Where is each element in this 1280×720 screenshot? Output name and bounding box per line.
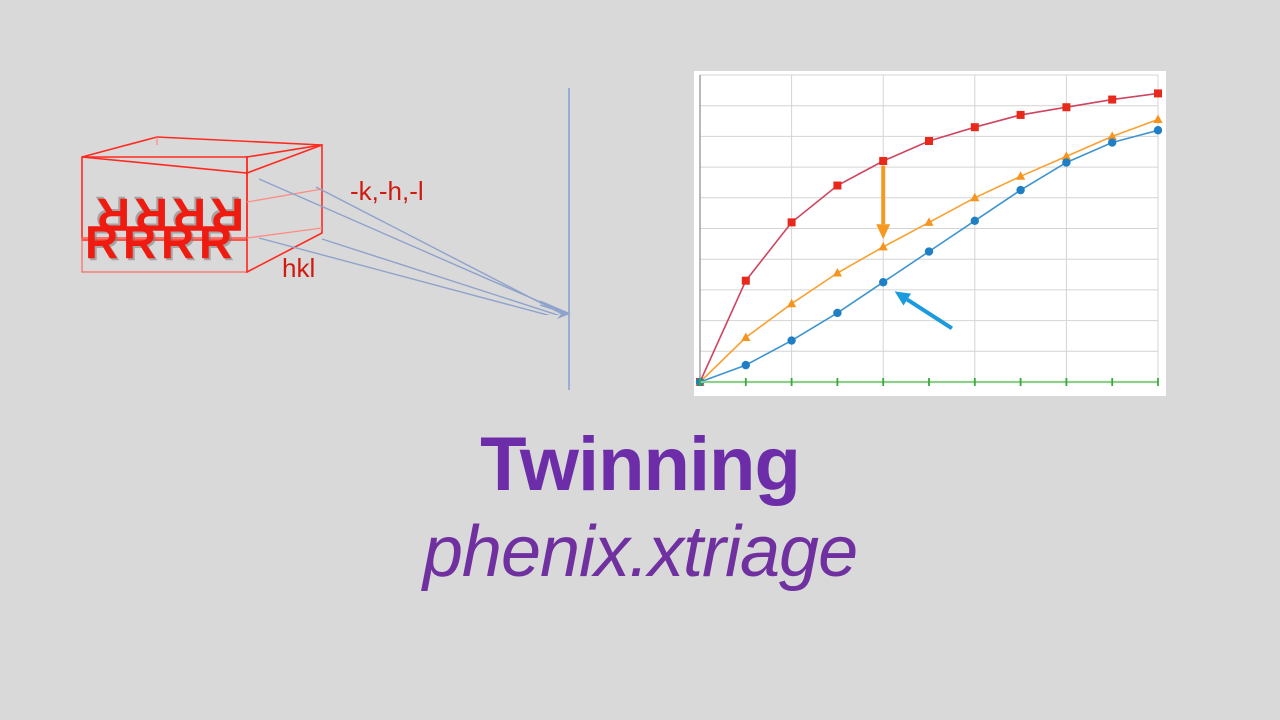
chart-marker-untwinned <box>1154 126 1162 134</box>
upper-domain-index-label: -k,-h,-l <box>350 176 424 206</box>
chart-marker-untwinned <box>1062 158 1070 166</box>
ray-arrowheads <box>540 295 590 335</box>
chart-marker-untwinned <box>925 247 933 255</box>
chart-marker-perfect-twin <box>925 137 933 145</box>
chart-marker-partial-twin <box>879 242 888 251</box>
chart-marker-untwinned <box>833 309 841 317</box>
chart-marker-perfect-twin <box>1062 103 1070 111</box>
chart-marker-perfect-twin <box>1108 96 1116 104</box>
svg-text:R: R <box>199 216 232 268</box>
chart-annotation-head-orange-down-arrow <box>876 224 890 239</box>
chart-marker-partial-twin <box>787 299 796 308</box>
chart-series-line-untwinned <box>700 130 1158 382</box>
chart-marker-perfect-twin <box>971 123 979 131</box>
chart-marker-partial-twin <box>833 268 842 277</box>
chart-marker-partial-twin <box>741 332 750 341</box>
chart-marker-untwinned <box>742 361 750 369</box>
chart-marker-perfect-twin <box>879 157 887 165</box>
chart-marker-untwinned <box>879 278 887 286</box>
page-title: Twinning <box>0 425 1280 505</box>
chart-marker-perfect-twin <box>833 182 841 190</box>
detector-plane-line <box>568 88 570 390</box>
chart-marker-untwinned <box>971 217 979 225</box>
chart-marker-partial-twin <box>1153 115 1162 124</box>
slide-canvas: R R R R R R R R R R R R R R R R <box>0 0 1280 720</box>
chart-marker-perfect-twin <box>1017 111 1025 119</box>
svg-text:R: R <box>85 216 118 268</box>
svg-text:R: R <box>123 216 156 268</box>
chart-marker-untwinned <box>787 336 795 344</box>
svg-text:R: R <box>161 216 194 268</box>
crystal-twin-diagram: R R R R R R R R R R R R R R R R <box>60 125 580 315</box>
chart-marker-untwinned <box>1016 186 1024 194</box>
lower-domain-index-label: hkl <box>282 253 315 283</box>
box-top-face <box>82 137 322 173</box>
chart-marker-untwinned <box>1108 138 1116 146</box>
chart-marker-partial-twin <box>924 217 933 226</box>
twinning-intensity-chart <box>694 71 1166 396</box>
chart-annotation-blue-pointer-arrow <box>907 300 952 329</box>
title-block: Twinning phenix.xtriage <box>0 425 1280 594</box>
chart-marker-perfect-twin <box>788 218 796 226</box>
page-subtitle: phenix.xtriage <box>0 511 1280 594</box>
chart-marker-perfect-twin <box>742 277 750 285</box>
chart-marker-perfect-twin <box>1154 89 1162 97</box>
